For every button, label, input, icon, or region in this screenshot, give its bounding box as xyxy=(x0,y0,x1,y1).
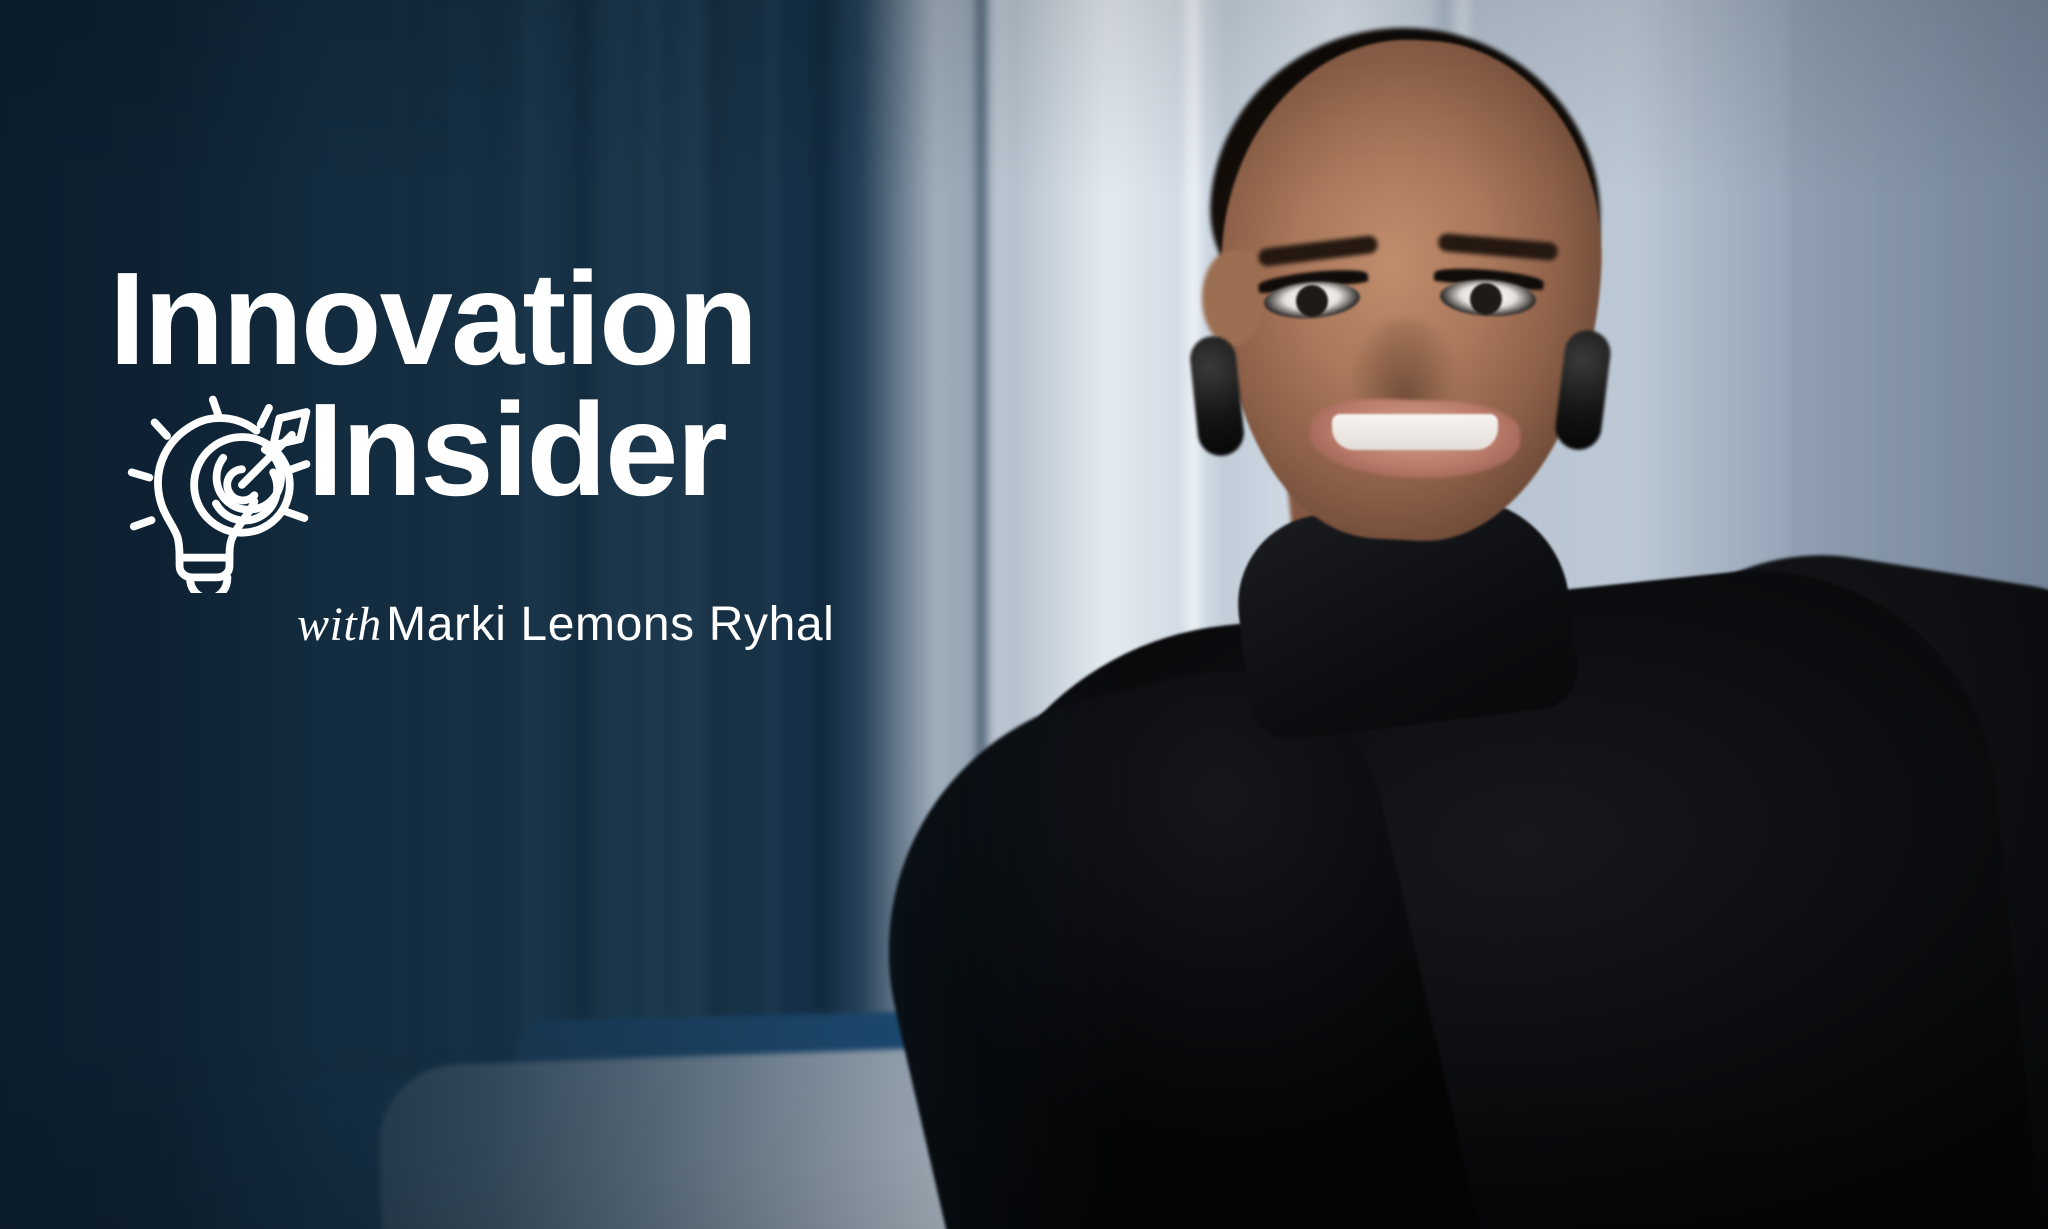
host-pupil-right xyxy=(1470,283,1502,315)
byline: with Marki Lemons Ryhal xyxy=(297,597,1055,652)
show-logo-block: Innovation xyxy=(105,258,1055,652)
page-title-line-2: Insider xyxy=(307,389,726,510)
title-line-2-wrap: Insider xyxy=(307,389,726,510)
host-pupil-left xyxy=(1296,285,1328,317)
podcast-cover-art: Innovation xyxy=(0,0,2048,1229)
byline-prefix: with xyxy=(297,598,382,651)
page-title-line-1: Innovation xyxy=(109,258,1055,379)
host-portrait xyxy=(940,0,2048,1229)
byline-host-name: Marki Lemons Ryhal xyxy=(386,598,834,651)
host-ear xyxy=(1202,250,1264,346)
host-teeth xyxy=(1332,414,1498,450)
lightbulb-target-arrow-icon xyxy=(113,385,321,593)
title-row-with-icon: Insider xyxy=(105,389,1055,593)
